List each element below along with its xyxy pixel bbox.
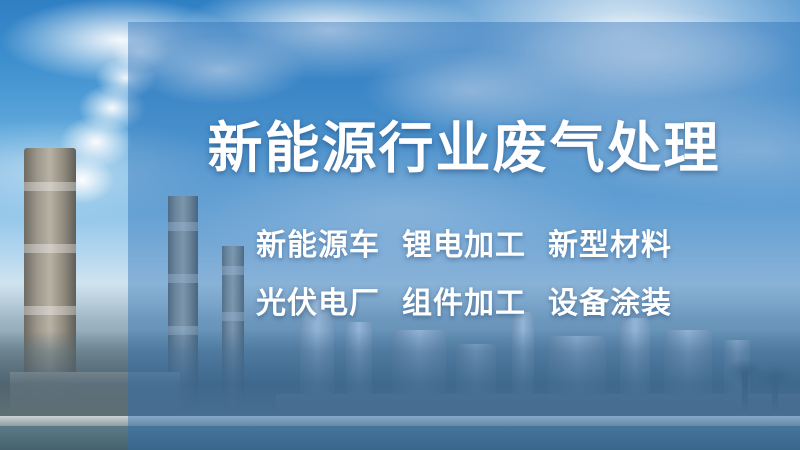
subtitle-item: 设备涂装 [548, 289, 672, 319]
banner-subtitle-row-1: 新能源车锂电加工新型材料 [256, 231, 672, 261]
subtitle-item: 新能源车 [256, 231, 380, 261]
subtitle-item: 新型材料 [548, 231, 672, 261]
subtitle-item: 锂电加工 [402, 231, 526, 261]
subtitle-item: 组件加工 [402, 289, 526, 319]
subtitle-item: 光伏电厂 [256, 289, 380, 319]
banner-text-block: 新能源行业废气处理 新能源车锂电加工新型材料 光伏电厂组件加工设备涂装 [128, 22, 800, 450]
banner-headline: 新能源行业废气处理 [207, 118, 720, 179]
promo-banner: 新能源行业废气处理 新能源车锂电加工新型材料 光伏电厂组件加工设备涂装 [0, 0, 800, 450]
banner-subtitle-row-2: 光伏电厂组件加工设备涂装 [256, 289, 672, 319]
